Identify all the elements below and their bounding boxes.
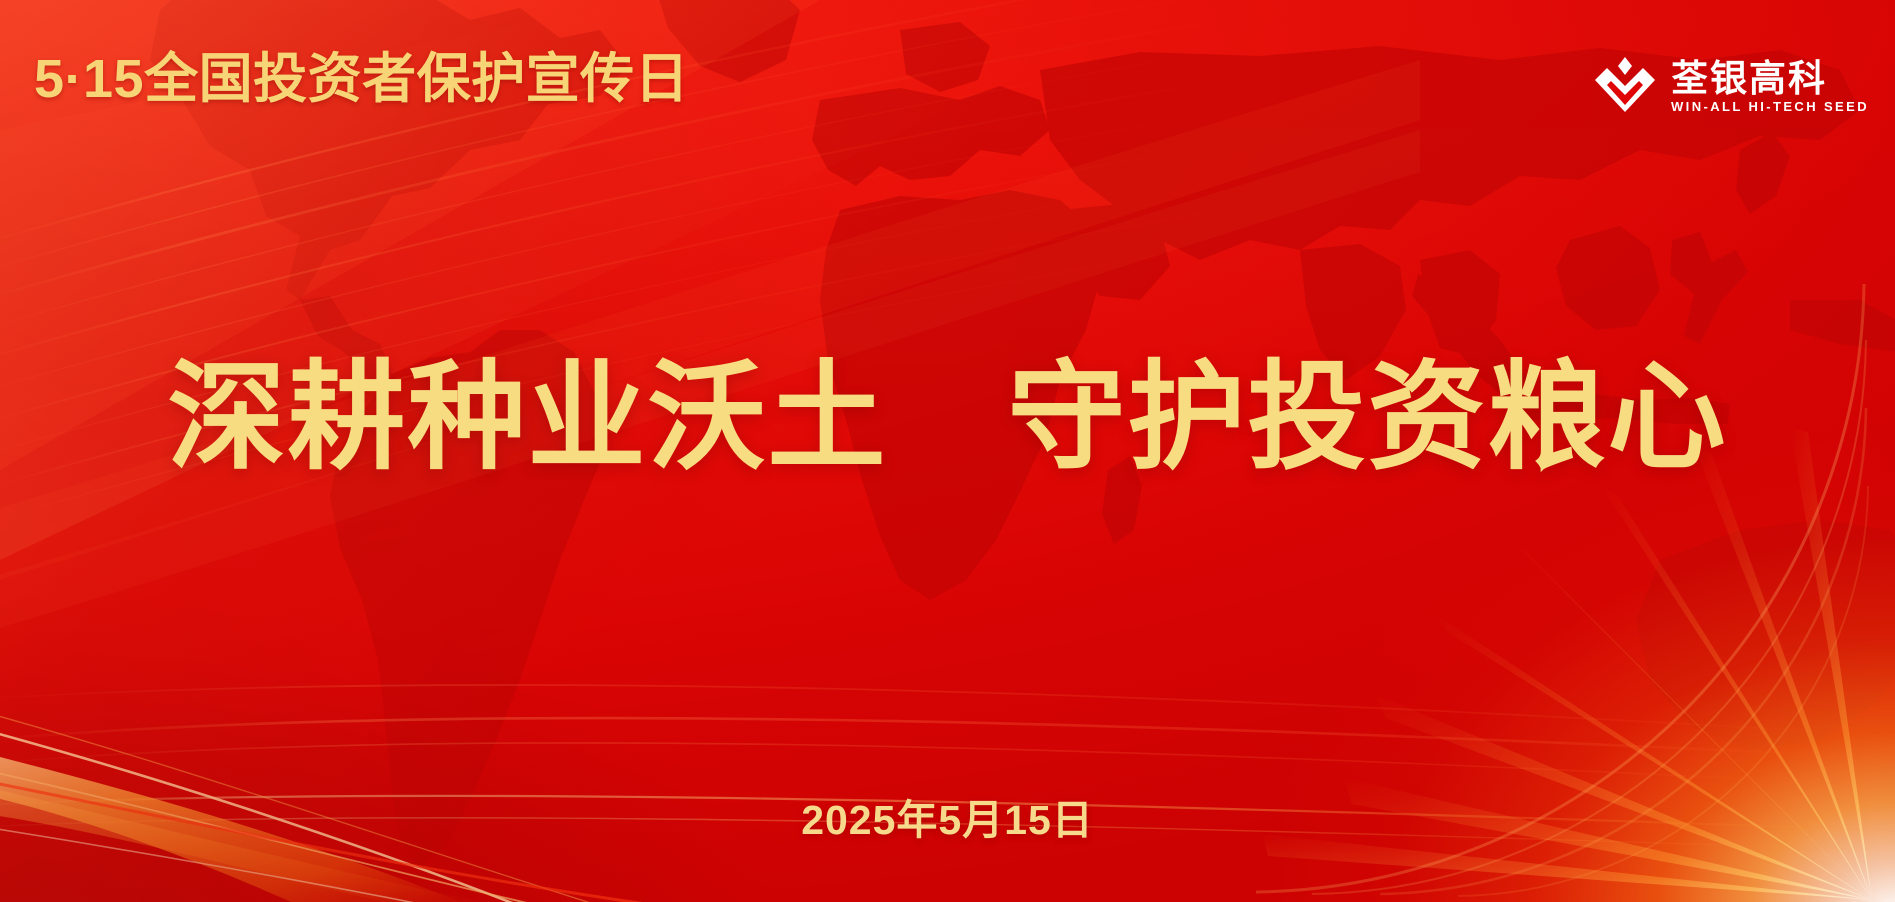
brand-name-en: WIN-ALL HI-TECH SEED (1671, 100, 1869, 113)
event-title: 5·15全国投资者保护宣传日 (34, 52, 689, 106)
poster-content: 5·15全国投资者保护宣传日 荃银高科 WIN-ALL HI-TECH SEED… (0, 0, 1895, 902)
win-all-chevron-logo-icon (1593, 55, 1657, 117)
brand-lockup: 荃银高科 WIN-ALL HI-TECH SEED (1593, 52, 1869, 120)
headline-slogan: 深耕种业沃土 守护投资粮心 (0, 352, 1895, 484)
poster-canvas: 5·15全国投资者保护宣传日 荃银高科 WIN-ALL HI-TECH SEED… (0, 0, 1895, 902)
event-date: 2025年5月15日 (0, 800, 1895, 841)
brand-name-cn: 荃银高科 (1671, 60, 1869, 97)
brand-text: 荃银高科 WIN-ALL HI-TECH SEED (1671, 60, 1869, 113)
